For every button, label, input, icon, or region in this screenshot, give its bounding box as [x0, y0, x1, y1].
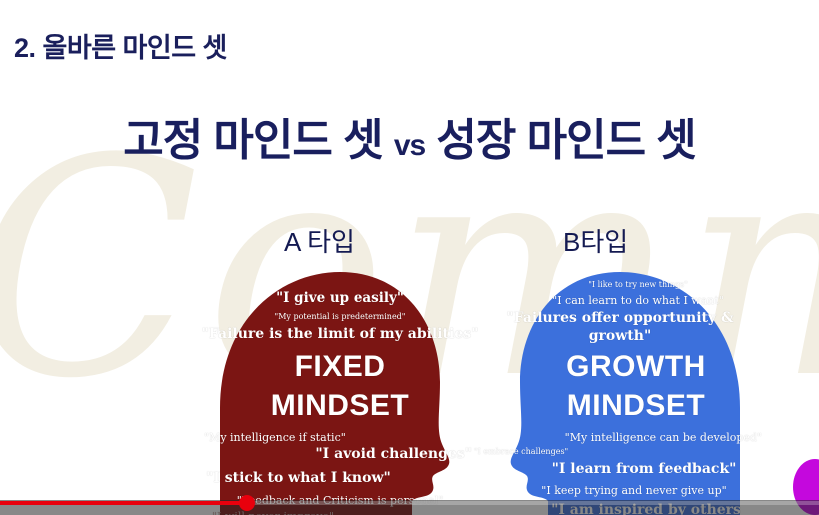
fixed-quote-2: "My potential is predetermined" — [190, 312, 490, 321]
fixed-head-quotes: "I give up easily" "My potential is pred… — [190, 258, 490, 515]
fixed-quote-3: "Failure is the limit of my abilities" — [190, 326, 490, 342]
section-heading: 2. 올바른 마인드 셋 — [14, 26, 227, 65]
growth-quote-1: "I like to try new things" — [470, 280, 788, 289]
growth-quote-2: "I can learn to do what I want" — [470, 294, 788, 307]
page-title: 고정 마인드 셋 vs 성장 마인드 셋 — [0, 104, 819, 168]
growth-quote-6: "I learn from feedback" — [470, 461, 794, 477]
fixed-quote-4: "My intelligence if static" — [190, 431, 346, 444]
progress-bar-handle[interactable] — [239, 495, 255, 511]
type-label-b: B타입 — [563, 222, 628, 259]
fixed-mindset-head: "I give up easily" "My potential is pred… — [190, 258, 490, 515]
title-vs-separator: vs — [394, 129, 425, 162]
title-left-term: 고정 마인드 셋 — [123, 116, 382, 165]
growth-quote-5: "I embrace challenges" — [470, 447, 568, 456]
fixed-quote-1: "I give up easily" — [190, 290, 490, 306]
growth-quote-3: "Failures offer opportunity & growth" — [470, 310, 770, 345]
fixed-headline-line-2: MINDSET — [190, 389, 490, 423]
video-slide-frame: Commu 2. 올바른 마인드 셋 고정 마인드 셋 vs 성장 마인드 셋 … — [0, 0, 819, 515]
growth-headline-line-1: GROWTH — [470, 350, 786, 384]
type-label-a: A 타입 — [284, 222, 355, 259]
fixed-headline-line-1: FIXED — [190, 350, 490, 384]
growth-mindset-head: "I like to try new things" "I can learn … — [470, 258, 770, 515]
growth-head-quotes: "I like to try new things" "I can learn … — [470, 258, 770, 515]
title-right-term: 성장 마인드 셋 — [436, 116, 695, 165]
progress-bar-fill — [0, 501, 247, 505]
fixed-quote-5: "I avoid challenges" — [315, 446, 490, 462]
fixed-quote-6: "I stick to what I know" — [190, 470, 391, 486]
growth-quote-4: "My intelligence can be developed" — [565, 431, 770, 444]
growth-quote-7: "I keep trying and never give up" — [470, 484, 784, 497]
growth-headline-line-2: MINDSET — [470, 389, 786, 423]
